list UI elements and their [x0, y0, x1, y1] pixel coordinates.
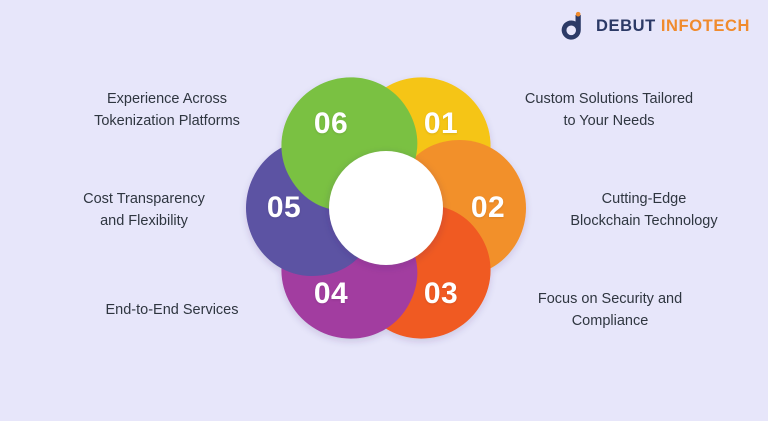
petal-number-06: 06 [314, 109, 348, 139]
petal-label-06: Experience Across Tokenization Platforms [58, 88, 276, 132]
petal-label-03: Focus on Security and Compliance [500, 288, 720, 332]
petal-label-01: Custom Solutions Tailored to Your Needs [497, 88, 721, 132]
brand-wordmark: DEBUTINFOTECH [596, 18, 750, 35]
petal-label-04: End-to-End Services [72, 299, 272, 321]
petal-label-02: Cutting-Edge Blockchain Technology [538, 188, 750, 232]
petal-number-05: 05 [267, 193, 301, 223]
brand-logo: DEBUTINFOTECH [558, 11, 750, 41]
petal-label-05: Cost Transparency and Flexibility [48, 188, 240, 232]
brand-name-secondary: INFOTECH [661, 17, 750, 35]
petal-number-01: 01 [424, 109, 458, 139]
brand-name-primary: DEBUT [596, 17, 656, 35]
petal-number-02: 02 [471, 193, 505, 223]
debut-d-mark-icon [558, 11, 588, 41]
petal-number-04: 04 [314, 279, 348, 309]
flower-diagram: 01 02 03 04 05 06 [231, 52, 541, 364]
center-circle [329, 151, 443, 265]
petal-number-03: 03 [424, 279, 458, 309]
